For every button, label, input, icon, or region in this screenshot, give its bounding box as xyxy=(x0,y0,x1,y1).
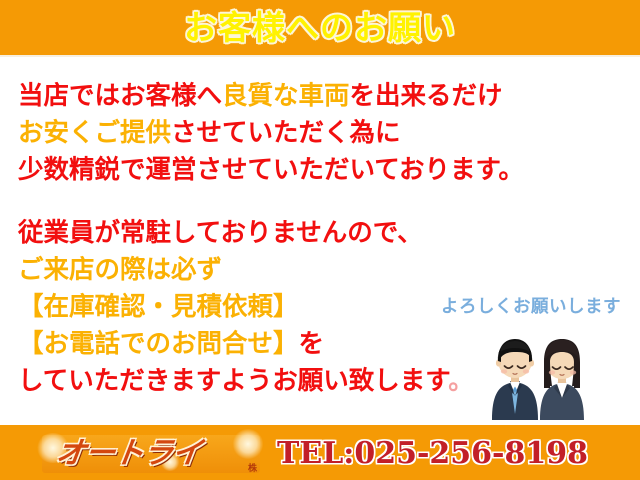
message-segment-highlight: ご来店の際は必ず xyxy=(18,255,222,285)
brand-logo-text: オートライ xyxy=(54,437,204,471)
phone-number[interactable]: TEL:025-256-8198 xyxy=(277,436,588,472)
message-segment: を出来るだけ xyxy=(350,81,503,111)
message-segment: 従業員が常駐しておりませんので、 xyxy=(18,218,423,248)
brand-logo-suffix: 株 xyxy=(248,461,257,474)
brand-logo[interactable]: オートライ 株 xyxy=(42,431,260,477)
bowing-businesswoman-figure xyxy=(540,339,584,420)
message-segment: 当店ではお客様へ xyxy=(18,81,222,111)
message-segment: を xyxy=(299,329,325,359)
bowing-businessman-figure xyxy=(492,339,538,420)
message-segment-highlight: 【在庫確認・見積依頼】 xyxy=(18,292,299,322)
message-segment: 少数精鋭で運営させていただいております。 xyxy=(18,155,524,185)
message-segment: していただきますようお願い致します xyxy=(18,366,448,396)
bowing-people-illustration xyxy=(484,328,590,420)
page-title: お客様へのお願い xyxy=(184,11,456,44)
header-banner: お客様へのお願い xyxy=(0,0,640,55)
greeting-text: よろしくお願いします xyxy=(436,296,626,318)
message-line: お安くご提供させていただく為に xyxy=(18,115,622,152)
paragraph-spacer xyxy=(18,189,622,215)
message-segment: させていただく為に xyxy=(171,118,401,148)
greeting-illustration-block: よろしくお願いします xyxy=(436,296,632,422)
message-segment-highlight: 良質な車両 xyxy=(222,81,350,111)
message-line: 従業員が常駐しておりませんので、 xyxy=(18,215,622,252)
message-segment-highlight: お安くご提供 xyxy=(18,118,171,148)
message-line: 少数精鋭で運営させていただいております。 xyxy=(18,152,622,189)
header-divider xyxy=(0,55,640,57)
message-line: ご来店の際は必ず xyxy=(18,252,622,289)
message-line: 当店ではお客様へ良質な車両を出来るだけ xyxy=(18,78,622,115)
message-segment-highlight: 【お電話でのお問合せ】 xyxy=(18,329,299,359)
